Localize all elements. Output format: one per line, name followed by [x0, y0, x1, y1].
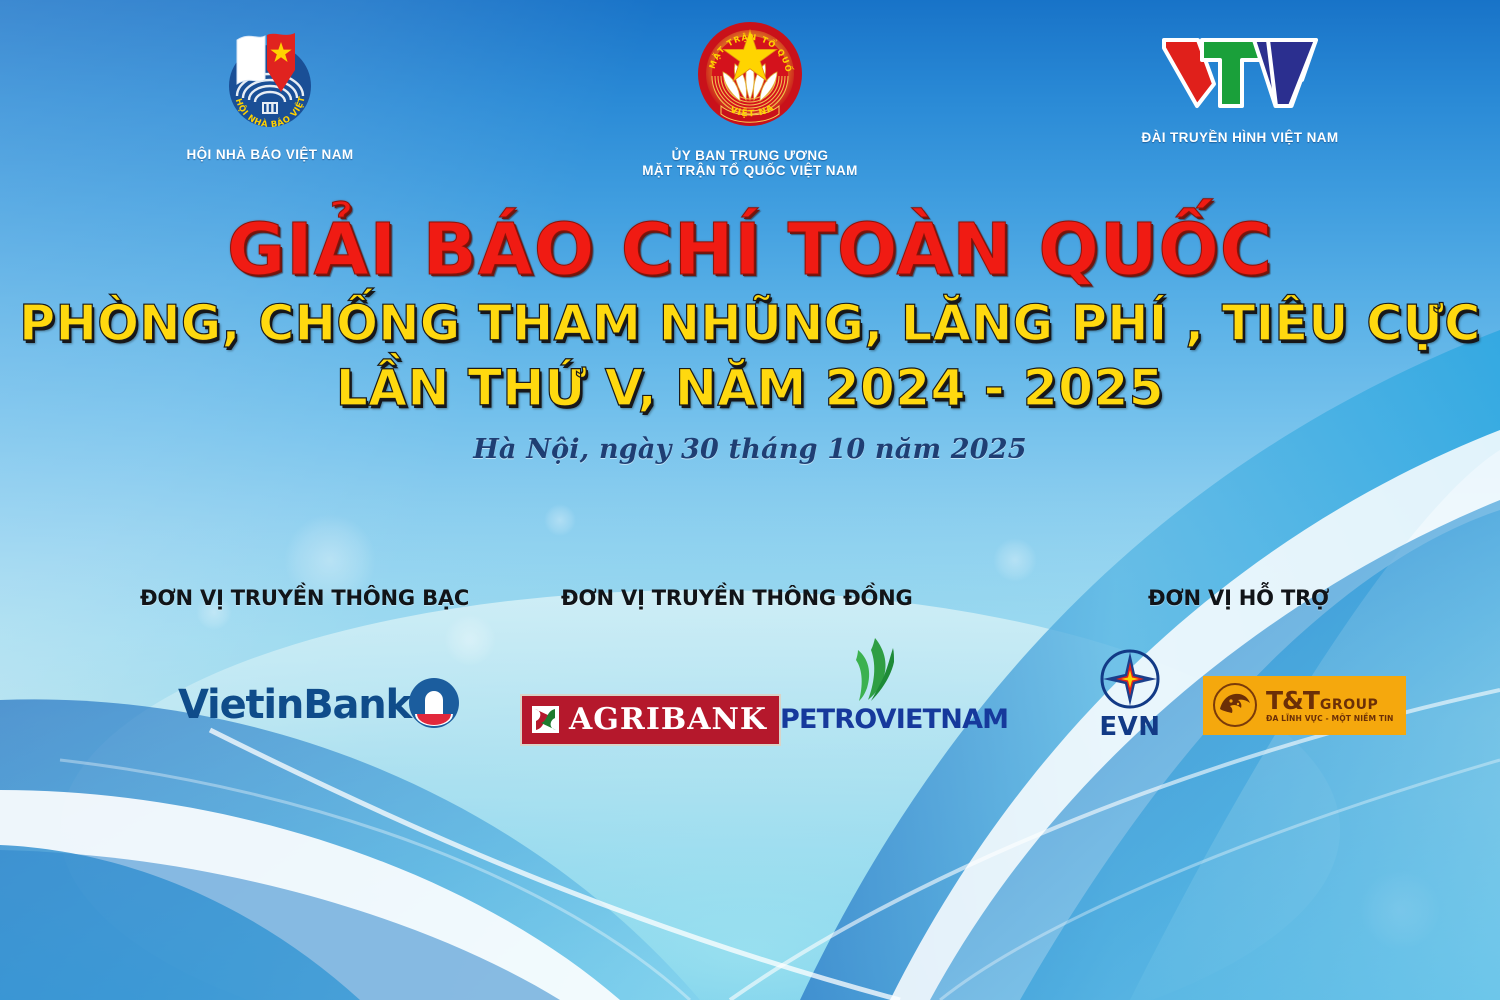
title-line-3: LẦN THỨ V, NĂM 2024 - 2025 [0, 356, 1500, 420]
org-logo-hoi-nha-bao: HỘI NHÀ BÁO VIỆT NAM HỘI NHÀ BÁO VIỆT NA… [40, 18, 500, 162]
sponsor-logo-petrovietnam[interactable]: PETROVIETNAM [780, 636, 970, 735]
tt-group-tiger-icon [1213, 683, 1257, 727]
tt-group-text-block: T&T GROUP ĐA LĨNH VỰC - MỘT NIỀM TIN [1266, 688, 1394, 723]
sponsor-logo-vietinbank[interactable]: VietinBank [178, 676, 463, 734]
tt-group-wordmark: T&T [1266, 688, 1319, 713]
hoi-nha-bao-viet-nam-emblem-icon: HỘI NHÀ BÁO VIỆT NAM [215, 18, 325, 133]
org-logo-mat-tran-to-quoc: VIỆT NAM MẶT TRẬN TỔ QUỐC ỦY BAN TRUNG Ư… [520, 14, 980, 178]
event-title-block: GIẢI BÁO CHÍ TOÀN QUỐC PHÒNG, CHỐNG THAM… [0, 208, 1500, 465]
petrovietnam-wordmark: PETROVIETNAM [780, 704, 970, 735]
sponsor-heading-support: ĐƠN VỊ HỖ TRỢ [1148, 586, 1329, 610]
sponsor-logo-evn[interactable]: EVN [1082, 648, 1178, 742]
sponsor-heading-bronze: ĐƠN VỊ TRUYỀN THÔNG ĐỒNG [561, 586, 913, 610]
vietinbank-wordmark: VietinBank [178, 682, 411, 728]
banner-canvas: HỘI NHÀ BÁO VIỆT NAM HỘI NHÀ BÁO VIỆT NA… [0, 0, 1500, 1000]
org-caption-vtv: ĐÀI TRUYỀN HÌNH VIỆT NAM [1010, 130, 1470, 145]
evn-wordmark: EVN [1082, 712, 1178, 742]
title-line-1: GIẢI BÁO CHÍ TOÀN QUỐC [0, 208, 1500, 292]
mat-tran-to-quoc-emblem-icon: VIỆT NAM MẶT TRẬN TỔ QUỐC [691, 14, 809, 134]
agribank-symbol-icon [532, 706, 559, 733]
agribank-wordmark: AGRIBANK [569, 702, 767, 737]
sponsor-heading-silver: ĐƠN VỊ TRUYỀN THÔNG BẠC [140, 586, 469, 610]
tt-group-tagline: ĐA LĨNH VỰC - MỘT NIỀM TIN [1266, 714, 1394, 723]
evn-star-icon [1082, 648, 1178, 710]
tt-group-suffix: GROUP [1320, 697, 1378, 713]
vietinbank-symbol-icon [405, 676, 463, 734]
org-logo-vtv: ĐÀI TRUYỀN HÌNH VIỆT NAM [1010, 30, 1470, 145]
petrovietnam-flame-icon [780, 636, 970, 702]
event-date: Hà Nội, ngày 30 tháng 10 năm 2025 [0, 434, 1500, 465]
org-caption-mat-tran-line1: ỦY BAN TRUNG ƯƠNG [520, 148, 980, 163]
org-caption-mat-tran-line2: MẶT TRẬN TỔ QUỐC VIỆT NAM [520, 163, 980, 178]
vtv-logo-icon [1150, 30, 1330, 116]
org-caption-hoi-nha-bao: HỘI NHÀ BÁO VIỆT NAM [40, 147, 500, 162]
organization-logo-row: HỘI NHÀ BÁO VIỆT NAM HỘI NHÀ BÁO VIỆT NA… [0, 0, 1500, 200]
sponsor-logo-tt-group[interactable]: T&T GROUP ĐA LĨNH VỰC - MỘT NIỀM TIN [1203, 676, 1406, 735]
title-line-2: PHÒNG, CHỐNG THAM NHŨNG, LĂNG PHÍ , TIÊU… [0, 292, 1500, 356]
sponsor-logo-agribank[interactable]: AGRIBANK [520, 694, 781, 746]
